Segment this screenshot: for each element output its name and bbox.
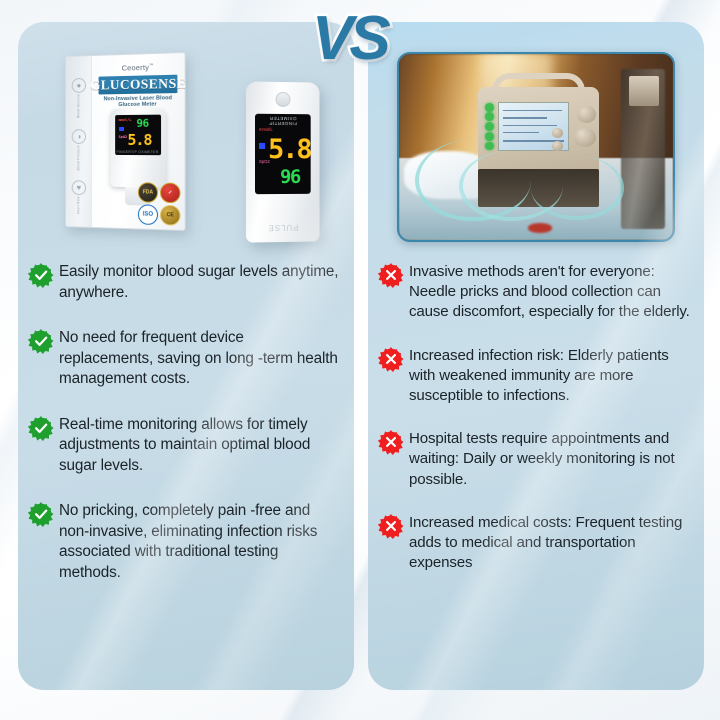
trademark-mark: ™ xyxy=(149,62,153,67)
comparison-infographic: ● Blood Glucose ◑ Blood Pressure ♥ Heart… xyxy=(0,0,720,720)
fda-seal: FDA xyxy=(138,182,158,203)
product-hero: ● Blood Glucose ◑ Blood Pressure ♥ Heart… xyxy=(18,22,354,254)
red-cross-badge-icon xyxy=(378,346,404,372)
quality-seal: ✓ xyxy=(160,183,180,204)
product-name: GLUCOSENSE xyxy=(90,75,186,93)
cons-item-text: Increased medical costs: Frequent testin… xyxy=(409,511,690,574)
red-cross-badge-icon xyxy=(378,429,404,455)
brand-text: Ceoerty xyxy=(122,63,150,73)
list-item: Increased infection risk: Elderly patien… xyxy=(378,344,690,407)
spine-caption: Heart Rate xyxy=(77,196,81,214)
product-tagline: Non-Invasive Laser Blood Glucose Meter xyxy=(99,95,178,108)
led-indicator xyxy=(485,103,494,112)
fingertip-device: FINGERTIP OXIMETER mmol/L SpO2 5.8 96 PU… xyxy=(246,81,320,242)
red-cross-badge-icon xyxy=(378,513,404,539)
box-indicator-block xyxy=(119,127,124,131)
list-item: No need for frequent device replacements… xyxy=(28,326,340,390)
cons-item-text: Hospital tests require appointments and … xyxy=(409,427,690,490)
box-spine: ● Blood Glucose ◑ Blood Pressure ♥ Heart… xyxy=(66,56,92,227)
pros-item-text: No pricking, completely pain -free and n… xyxy=(59,499,340,583)
brand-name: Ceoerty™ xyxy=(99,61,178,73)
led-indicator xyxy=(485,122,494,131)
list-item: Invasive methods aren't for everyone: Ne… xyxy=(378,260,690,323)
box-spo2-value: 96 xyxy=(136,117,148,130)
pros-item-text: Easily monitor blood sugar levels anytim… xyxy=(59,260,340,303)
blood-pressure-icon: ◑ xyxy=(72,129,86,144)
list-item: Real-time monitoring allows for timely a… xyxy=(28,413,340,477)
green-check-badge-icon xyxy=(28,328,54,354)
device-screen-header: FINGERTIP OXIMETER xyxy=(255,116,311,126)
photo-fluid-container xyxy=(629,76,659,106)
cons-item-text: Increased infection risk: Elderly patien… xyxy=(409,344,690,407)
cons-list: Invasive methods aren't for everyone: Ne… xyxy=(368,260,704,594)
device-footer-text: PULSE xyxy=(246,223,320,233)
green-check-badge-icon xyxy=(28,262,54,288)
green-check-badge-icon xyxy=(28,415,54,441)
box-screen-header: FINGERTIP OXIMETER xyxy=(115,150,161,154)
spine-caption: Blood Glucose xyxy=(77,94,81,118)
photo-oxygen-tube xyxy=(531,156,624,219)
led-indicator xyxy=(485,112,494,121)
box-device-screen: mmol/L SpO2 96 5.8 FINGERTIP OXIMETER xyxy=(115,115,161,156)
product-name-banner: GLUCOSENSE xyxy=(99,74,178,94)
box-device-illustration: mmol/L SpO2 96 5.8 FINGERTIP OXIMETER xyxy=(110,108,166,187)
photo-control-knob xyxy=(577,106,596,123)
spine-feature-blood-pressure: ◑ Blood Pressure xyxy=(70,129,88,170)
spine-feature-heart-rate: ♥ Heart Rate xyxy=(70,180,88,214)
photo-red-control xyxy=(528,223,553,232)
vs-badge: VS xyxy=(312,8,387,70)
spine-caption: Blood Pressure xyxy=(77,145,81,171)
list-item: Increased medical costs: Frequent testin… xyxy=(378,511,690,574)
list-item: Easily monitor blood sugar levels anytim… xyxy=(28,260,340,303)
list-item: Hospital tests require appointments and … xyxy=(378,427,690,490)
device-glucose-value: 5.8 xyxy=(268,134,310,165)
hospital-equipment-photo xyxy=(397,52,675,242)
photo-control-knob xyxy=(552,141,563,150)
device-power-button[interactable] xyxy=(276,92,291,107)
box-glucose-value: 5.8 xyxy=(127,131,151,149)
pros-list: Easily monitor blood sugar levels anytim… xyxy=(18,260,354,606)
box-glucose-label: mmol/L xyxy=(119,118,132,122)
hospital-hero xyxy=(368,22,704,254)
blood-drop-icon: ● xyxy=(72,78,86,93)
device-spo2-value: 96 xyxy=(280,166,300,188)
box-spo2-label: SpO2 xyxy=(119,135,128,139)
pros-panel: ● Blood Glucose ◑ Blood Pressure ♥ Heart… xyxy=(18,22,354,690)
pros-item-text: Real-time monitoring allows for timely a… xyxy=(59,413,340,477)
device-glucose-label: mmol/L xyxy=(259,127,273,132)
cons-item-text: Invasive methods aren't for everyone: Ne… xyxy=(409,260,690,323)
heart-rate-icon: ♥ xyxy=(72,180,86,195)
green-check-badge-icon xyxy=(28,501,54,527)
spine-feature-blood-glucose: ● Blood Glucose xyxy=(70,78,88,118)
certification-seals: FDA ✓ ISO CE xyxy=(134,182,181,226)
device-indicator-block xyxy=(259,143,265,149)
box-front-face: Ceoerty™ GLUCOSENSE Non-Invasive Laser B… xyxy=(92,53,185,230)
certified-seal: CE xyxy=(160,205,180,226)
red-cross-badge-icon xyxy=(378,262,404,288)
product-box: ● Blood Glucose ◑ Blood Pressure ♥ Heart… xyxy=(65,52,186,231)
list-item: No pricking, completely pain -free and n… xyxy=(28,499,340,583)
cons-panel: Invasive methods aren't for everyone: Ne… xyxy=(368,22,704,690)
led-indicator xyxy=(485,132,494,141)
device-screen: FINGERTIP OXIMETER mmol/L SpO2 5.8 96 xyxy=(255,114,311,194)
photo-control-knob xyxy=(552,128,563,137)
pros-item-text: No need for frequent device replacements… xyxy=(59,326,340,390)
iso-seal: ISO xyxy=(138,204,158,225)
